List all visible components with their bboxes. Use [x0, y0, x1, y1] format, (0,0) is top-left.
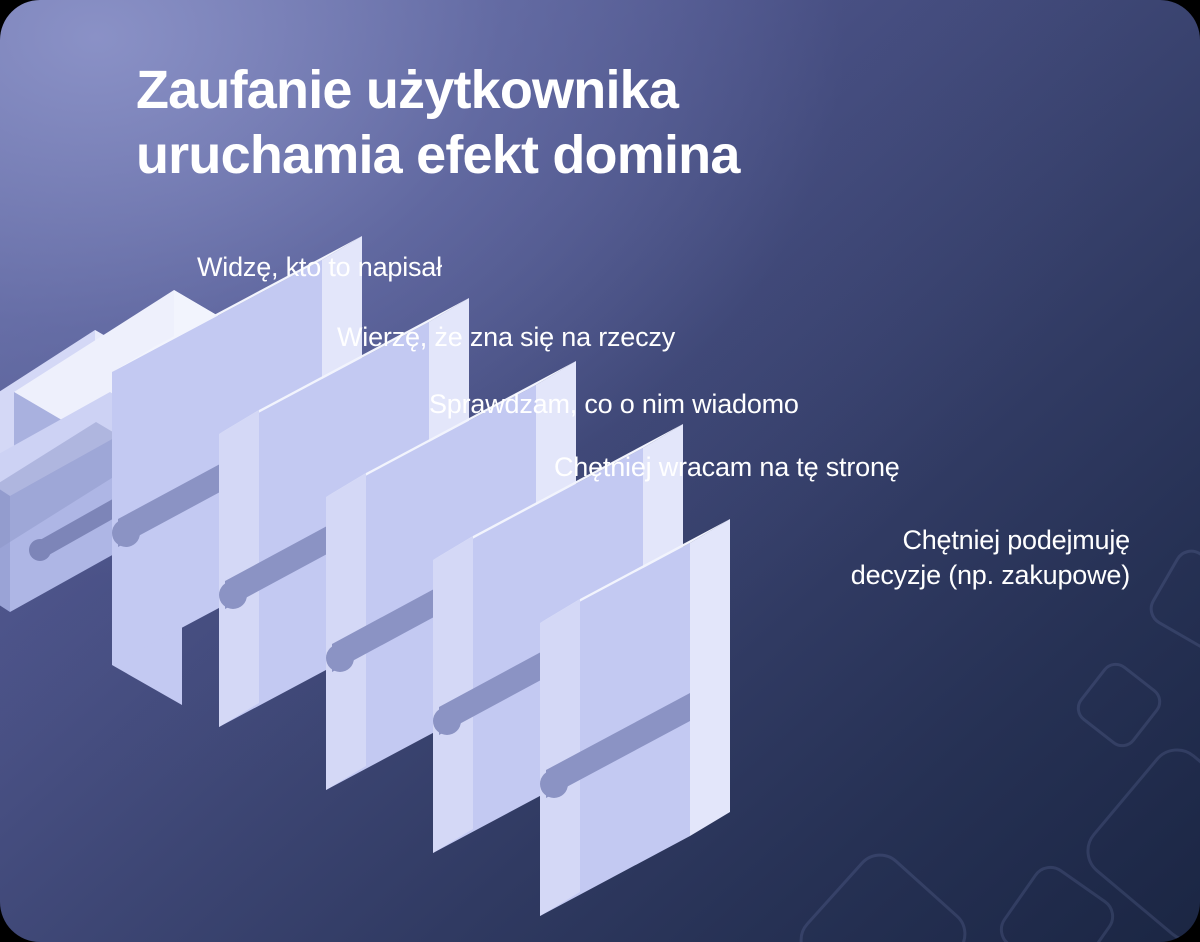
step-label-3: Sprawdzam, co o nim wiadomo: [429, 387, 799, 422]
title-line-1: Zaufanie użytkownika: [136, 58, 1036, 123]
step-label-5-line-1: Chętniej podejmuję: [718, 523, 1130, 558]
infographic-card: Zaufanie użytkownika uruchamia efekt dom…: [0, 0, 1200, 942]
step-label-5: Chętniej podejmuję decyzje (np. zakupowe…: [718, 523, 1130, 592]
page-title: Zaufanie użytkownika uruchamia efekt dom…: [136, 58, 1036, 188]
step-label-4-line-1: Chętniej wracam na tę stronę: [554, 450, 900, 485]
step-label-5-line-2: decyzje (np. zakupowe): [718, 558, 1130, 593]
step-label-4: Chętniej wracam na tę stronę: [554, 450, 900, 485]
step-label-3-line-1: Sprawdzam, co o nim wiadomo: [429, 387, 799, 422]
step-label-2-line-1: Wierzę, że zna się na rzeczy: [337, 320, 675, 355]
title-line-2: uruchamia efekt domina: [136, 123, 1036, 188]
step-label-1: Widzę, kto to napisał: [197, 250, 442, 285]
step-label-1-line-1: Widzę, kto to napisał: [197, 250, 442, 285]
step-label-2: Wierzę, że zna się na rzeczy: [337, 320, 675, 355]
